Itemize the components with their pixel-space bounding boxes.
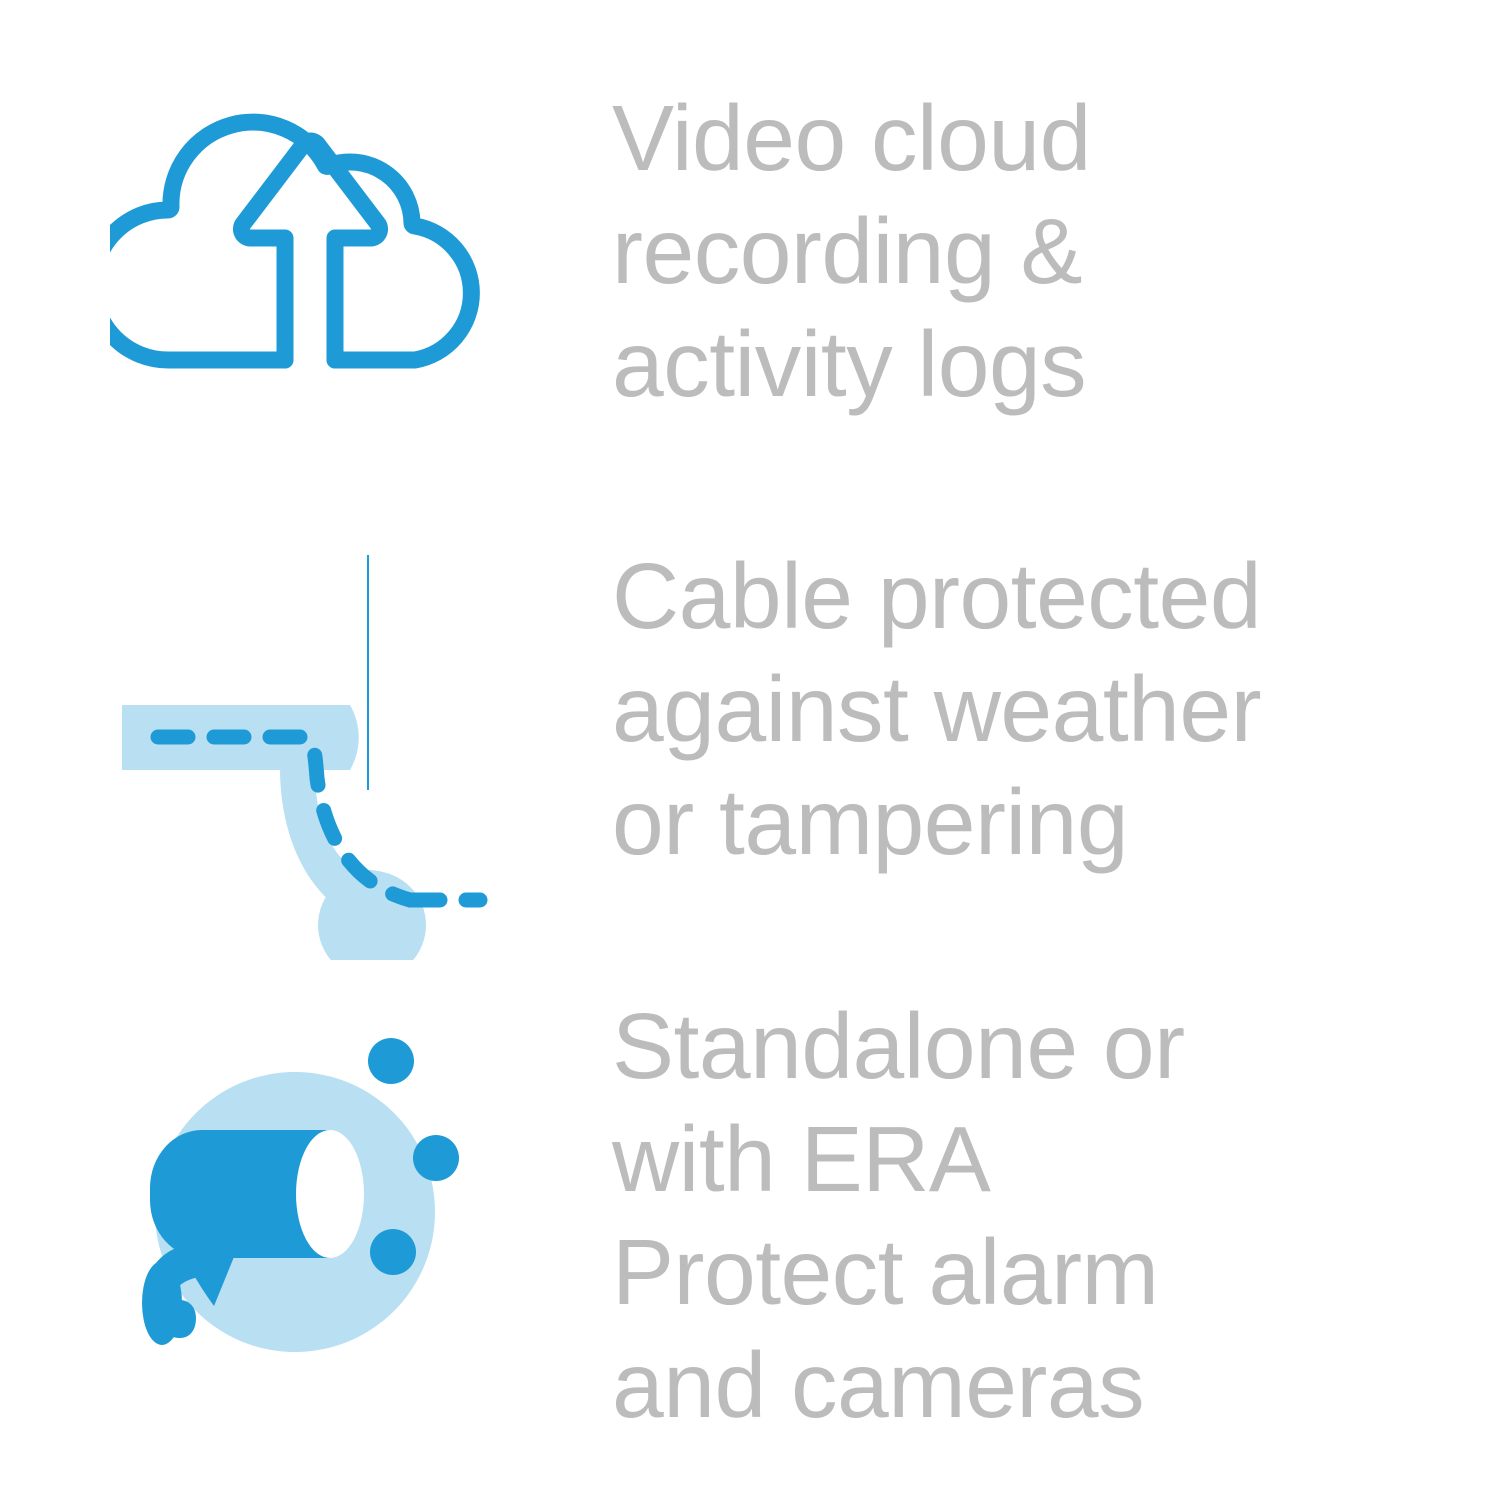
cloud-upload-icon bbox=[110, 60, 510, 390]
feature-text-cell-cable: Cable protected against weather or tampe… bbox=[612, 540, 1412, 879]
signal-dot-top bbox=[368, 1038, 414, 1084]
feature-label-video-cloud: Video cloud recording & activity logs bbox=[612, 82, 1412, 421]
signal-dot-bottom bbox=[370, 1229, 416, 1275]
feature-label-cable-protection: Cable protected against weather or tampe… bbox=[612, 540, 1412, 879]
feature-label-standalone-era: Standalone or with ERA Protect alarm and… bbox=[612, 990, 1412, 1442]
feature-list-graphic: Video cloud recording & activity logs bbox=[0, 0, 1500, 1500]
feature-text-cell-standalone: Standalone or with ERA Protect alarm and… bbox=[612, 990, 1412, 1442]
feature-text-cell-video-cloud: Video cloud recording & activity logs bbox=[612, 82, 1412, 421]
cloud-upload-icon-cell bbox=[110, 60, 510, 480]
feature-row-video-cloud: Video cloud recording & activity logs bbox=[0, 60, 1500, 480]
camera-mount-base bbox=[142, 1261, 182, 1345]
feature-row-standalone-era: Standalone or with ERA Protect alarm and… bbox=[0, 990, 1500, 1440]
cable-routing-icon bbox=[110, 540, 510, 960]
feature-row-cable-protection: Cable protected against weather or tampe… bbox=[0, 540, 1500, 960]
security-camera-icon-cell bbox=[110, 990, 510, 1440]
cable-routing-icon-cell bbox=[110, 540, 510, 960]
signal-dot-middle bbox=[413, 1135, 459, 1181]
security-camera-icon bbox=[110, 990, 510, 1390]
